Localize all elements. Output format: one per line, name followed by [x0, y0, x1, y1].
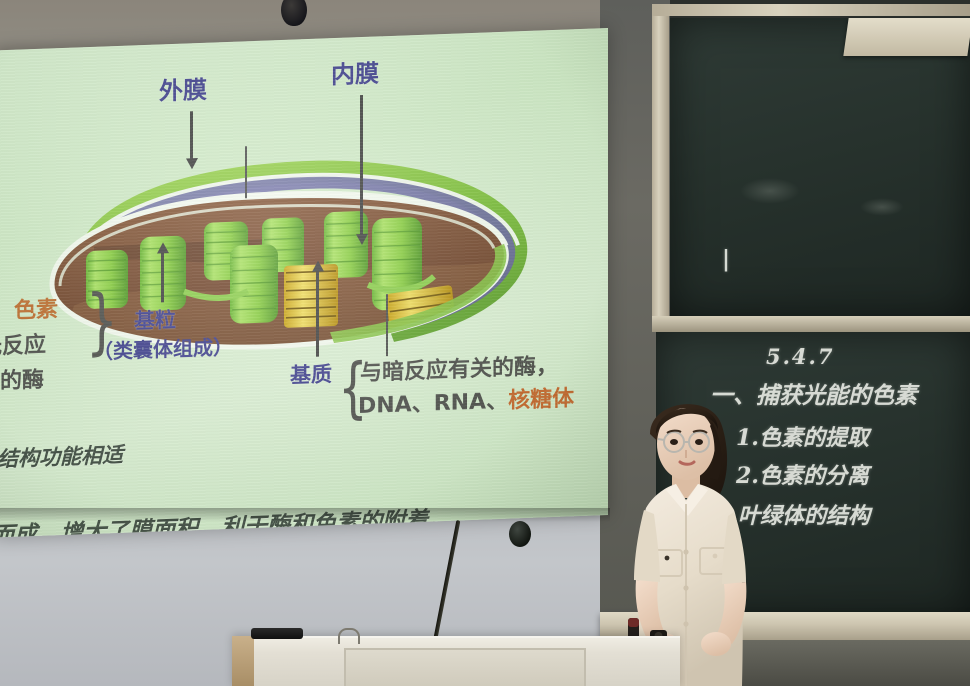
remote-button — [628, 618, 639, 627]
chalk-smudge — [740, 178, 800, 204]
label-dark-reaction-1: 与暗反应有关的酶， — [360, 355, 558, 385]
label-outer-membrane: 外膜 — [159, 78, 207, 105]
arrow-stroma — [316, 271, 319, 357]
lectern-left-edge — [232, 636, 254, 686]
chalk-stray-mark: | — [722, 246, 730, 272]
hand-right — [701, 632, 731, 656]
chalk-smudge — [860, 198, 904, 216]
label-dna-rna: DNA、RNA、 — [358, 389, 508, 420]
slide-content: } { 外膜 内膜 基粒 （类囊体组成） 基质 色素 光反应 关的酶 与暗反应有… — [0, 28, 608, 538]
label-pigment: 色素 — [14, 298, 58, 323]
pointer-line-1 — [245, 146, 247, 198]
projection-screen: } { 外膜 内膜 基粒 （类囊体组成） 基质 色素 光反应 关的酶 与暗反应有… — [0, 28, 608, 538]
label-ribosome: 核糖体 — [508, 386, 574, 413]
label-light-reaction-1: 光反应 — [0, 334, 46, 360]
pocket-button — [665, 556, 670, 561]
thylakoid-gold-stack-1 — [284, 264, 338, 328]
arrow-granum — [161, 252, 164, 302]
label-light-reaction-2: 关的酶 — [0, 369, 44, 395]
label-granum-sub: （类囊体组成） — [93, 337, 233, 363]
lectern-front-panel — [344, 648, 586, 686]
arrow-inner-membrane — [360, 95, 363, 235]
shirt-button — [683, 549, 688, 554]
pocket-button — [713, 554, 718, 559]
pointer-line-2 — [386, 294, 388, 356]
classroom-scene: | 5.4.7 一、捕获光能的色素 1.色素的提取 2.色素的分离 叶绿体的结构 — [0, 0, 970, 686]
blackboard-panel-upper: | — [670, 18, 970, 318]
blackboard-frame-left — [652, 10, 669, 330]
handwriting-line-1: 的结构功能相适 — [0, 439, 123, 474]
blackboard-slider-handle[interactable] — [843, 18, 970, 56]
cable-loop — [338, 628, 360, 644]
shirt-button — [683, 585, 688, 590]
remote-on-lectern — [251, 628, 303, 639]
label-dark-reaction-2: DNA、RNA、核糖体 — [358, 387, 574, 418]
blackboard-middle-rail — [652, 316, 970, 332]
label-inner-membrane: 内膜 — [331, 61, 379, 88]
arrow-outer-membrane — [190, 111, 193, 159]
label-granum: 基粒 — [134, 309, 176, 333]
chalk-date: 5.4.7 — [766, 344, 834, 369]
blackboard-frame-top — [652, 4, 970, 16]
microphone-head — [509, 521, 531, 547]
shirt-button — [683, 621, 688, 626]
screen-bottom-shadow — [0, 508, 610, 522]
label-stroma: 基质 — [290, 363, 332, 387]
